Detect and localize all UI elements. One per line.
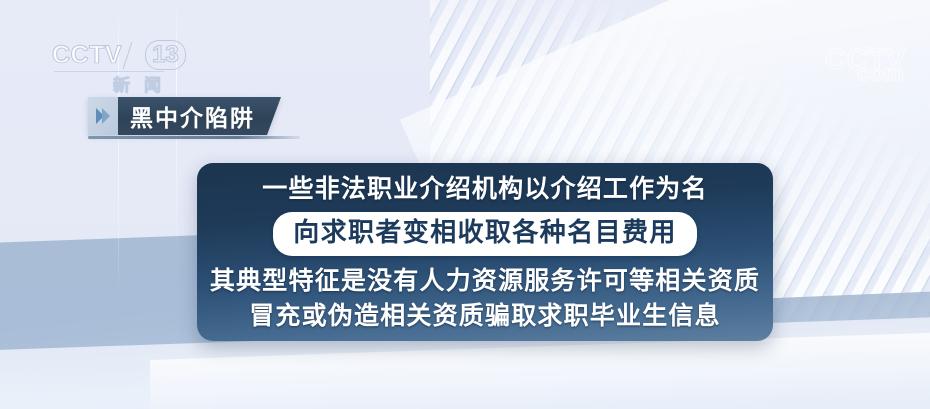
panel-line-2: 向求职者变相收取各种名目费用 [293,216,677,250]
news-graphic-frame: CCTV 13 新 闻 CCTV 央视网 com 黑中介陷阱 一些非法职业介绍机… [0,0,930,409]
panel-line-3: 其典型特征是没有人力资源服务许可等相关资质 [210,264,760,298]
topic-banner-plate: 黑中介陷阱 [118,97,281,135]
panel-highlight-pill: 向求职者变相收取各种名目费用 [273,212,697,256]
topic-banner-underline [88,136,300,139]
chevron-right-icon [102,108,110,124]
panel-line-4: 冒充或伪造相关资质骗取求职毕业生信息 [249,299,721,333]
main-text-panel: 一些非法职业介绍机构以介绍工作为名 向求职者变相收取各种名目费用 其典型特征是没… [197,163,773,341]
double-chevron-icon [88,97,118,135]
topic-banner-label: 黑中介陷阱 [130,99,255,133]
background-seam-line [118,0,119,300]
panel-line-1: 一些非法职业介绍机构以介绍工作为名 [262,172,707,206]
main-text-lines: 一些非法职业介绍机构以介绍工作为名 向求职者变相收取各种名目费用 其典型特征是没… [197,163,773,341]
topic-banner: 黑中介陷阱 [88,97,281,135]
